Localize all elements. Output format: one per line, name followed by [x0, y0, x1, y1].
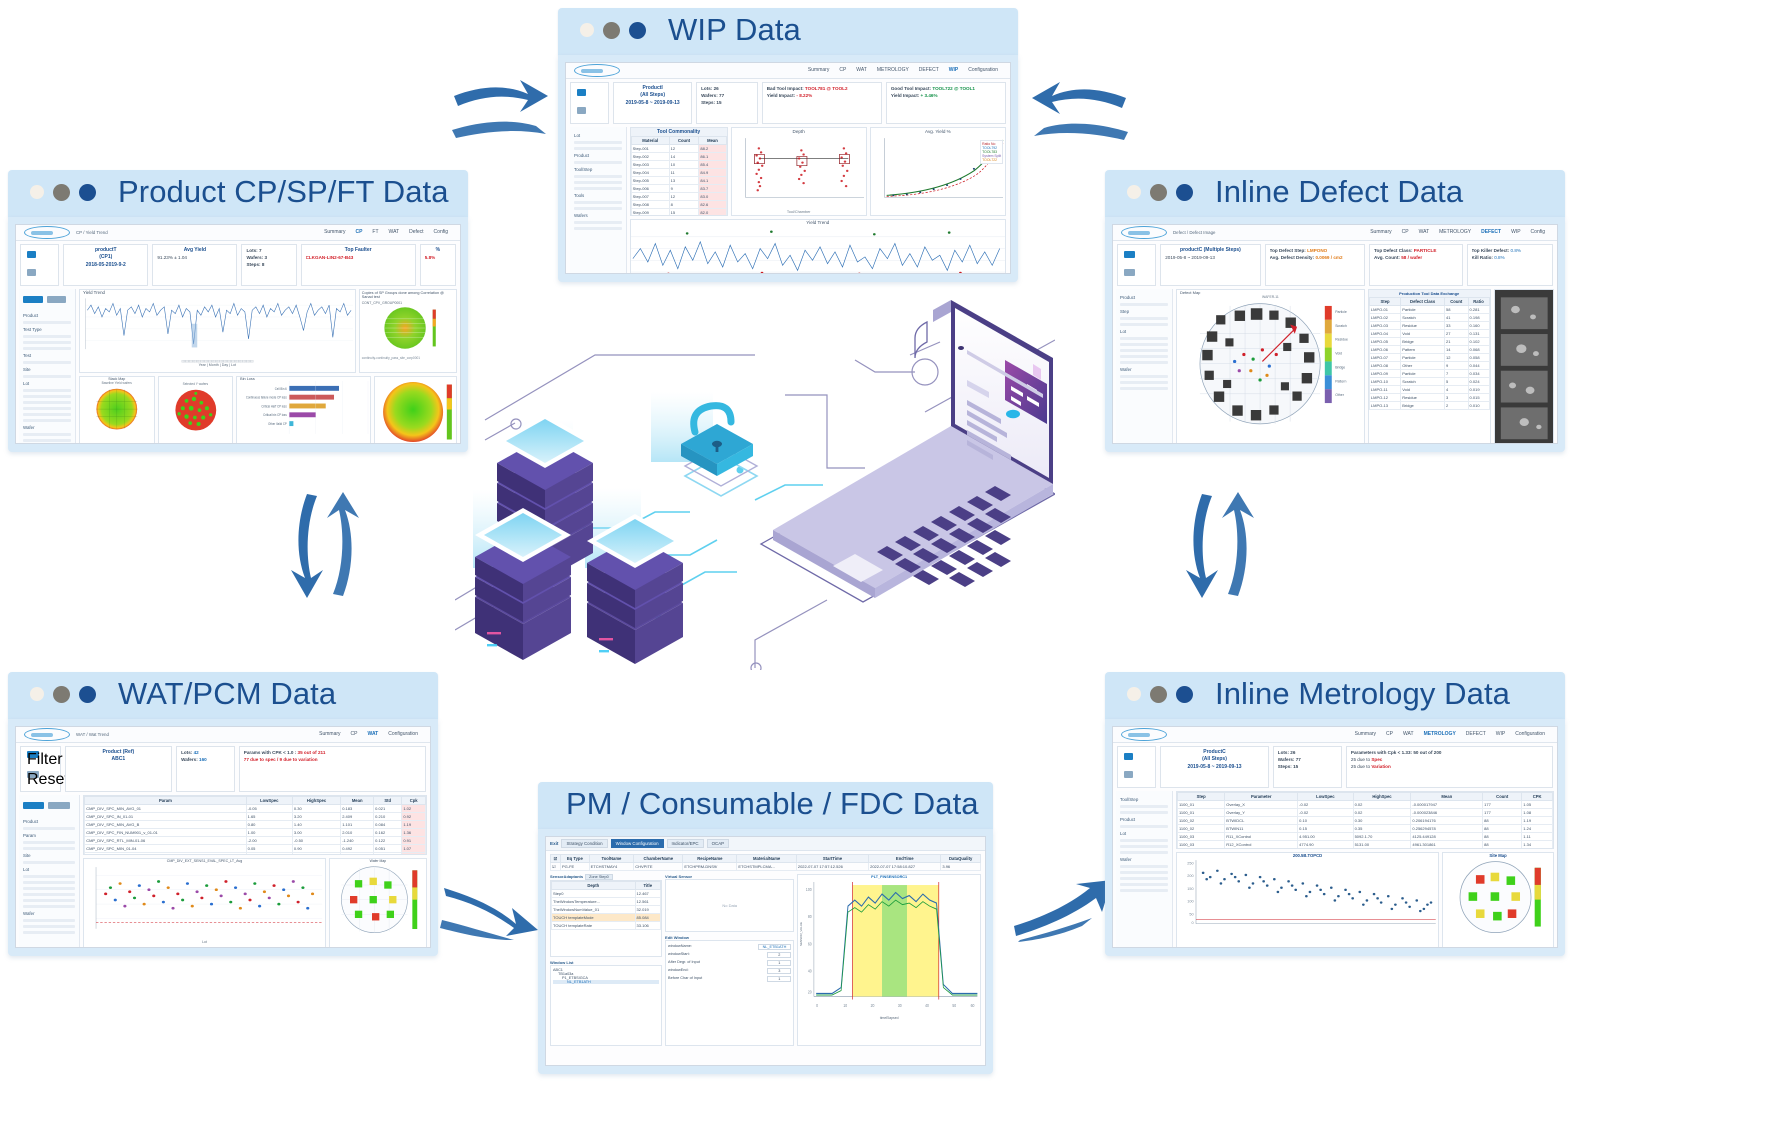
- window-item-selected[interactable]: NL_ETB1ATH: [553, 980, 659, 984]
- sidebar-label-site: Site: [23, 367, 71, 372]
- boxplot-chart[interactable]: Depth: [731, 127, 867, 216]
- table-row: CMP_DIV_SPC_MIN_AVG_01-0.050.300.1830.02…: [85, 804, 426, 812]
- th-highspec: HighSpec: [292, 796, 340, 804]
- lower-content: SensorAdaptants Zone Step0 DepthTitle St…: [546, 874, 985, 1050]
- kpi-cpk-value: 50 out of 200: [1413, 750, 1441, 755]
- tool-commonality-table[interactable]: Tool Commonality Material Count Mean Ste…: [630, 127, 728, 216]
- heatmap-wafer-panel[interactable]: [374, 376, 457, 444]
- filter-toolbar[interactable]: [570, 82, 609, 124]
- panel-title-pm-fdc: PM / Consumable / FDC Data: [566, 788, 979, 821]
- svg-text:Scratch: Scratch: [1335, 323, 1347, 327]
- clear-button[interactable]: [48, 802, 69, 809]
- reset-button[interactable]: [27, 269, 36, 276]
- laptop-illustration: [761, 300, 1055, 602]
- sensor-list[interactable]: DepthTitle Step012.467 TheWindowTemperat…: [550, 880, 662, 957]
- diagram-canvas: WIP Data Summary CP WAT METROLOGY DEFECT…: [0, 0, 1769, 1125]
- kpi-lots-value: 26: [714, 86, 719, 91]
- kpi-product-value: ABC1: [70, 756, 167, 764]
- svg-text:10: 10: [844, 1002, 848, 1008]
- kpi-killratio-value: 0.8%: [1494, 255, 1504, 260]
- chart-legend: Ratio No TOOL792 TOOL783 System Split TO…: [980, 140, 1003, 164]
- virtual-sensor-panel[interactable]: No Data: [665, 879, 794, 933]
- tab-bar[interactable]: Exit Strategy Condition Window Configura…: [546, 837, 985, 851]
- table-row: LMPO-08Other90.044: [1369, 361, 1489, 369]
- field-value[interactable]: NL_ETB1ATH: [758, 944, 792, 950]
- field-value[interactable]: 3: [767, 968, 791, 974]
- wat-grid[interactable]: Param LowSpec HighSpec Mean Std Cpk CMP_…: [84, 796, 426, 856]
- dot-light-icon: [30, 687, 44, 701]
- defect-map-svg: ParticleScratch ResidueVoid BridgePatter…: [1177, 299, 1364, 426]
- kpi-row: ProductI (All Steps) 2019-05-8 ~ 2019-09…: [566, 79, 1010, 127]
- kpi-wafers-value: 3: [264, 255, 267, 260]
- panel-wat-pcm[interactable]: WAT/PCM Data WAT / Wat Trend Summary CP …: [8, 672, 438, 956]
- panel-body-wat-pcm: WAT / Wat Trend Summary CP WAT Configura…: [8, 719, 438, 956]
- sidebar-label-wafer: Wafer: [1120, 367, 1168, 372]
- metrology-scatter-chart[interactable]: 200.5B.TOPCD 250 200 150 100: [1176, 852, 1439, 948]
- kpi-bad-yield-value: - 8.22%: [796, 93, 812, 98]
- kpi-good-tool-label: Good Tool Impact:: [891, 86, 931, 91]
- dashboard-topbar: WAT / Wat Trend Summary CP WAT Configura…: [16, 727, 430, 743]
- dashboard-sidebar[interactable]: Tool/Step Product Lot Wafer: [1116, 791, 1173, 948]
- field-value[interactable]: 2: [767, 952, 791, 958]
- nav-wat[interactable]: WAT: [368, 731, 379, 737]
- sidebar-label-lot: Lot: [23, 381, 71, 386]
- apply-button[interactable]: [23, 296, 43, 303]
- cumulative-chart[interactable]: Avg. Yield %: [870, 127, 1006, 216]
- kpi-product-value: productT: [68, 247, 143, 255]
- kpi-product: ProductC (All Steps) 2019-05-8 ~ 2019-09…: [1160, 746, 1269, 788]
- nav-wat[interactable]: WAT: [1403, 731, 1414, 737]
- kpi-avg-yield-label: Avg Yield: [157, 247, 232, 255]
- nav-config[interactable]: Config: [1531, 229, 1545, 235]
- window-dots: [30, 686, 96, 703]
- cell-endtime: 2022-07-07 17:58:10.827: [869, 862, 941, 870]
- dot-grey-icon: [1150, 184, 1167, 201]
- arrow-defect-to-metrology: [1180, 490, 1270, 605]
- kpi-product-range: 2019-05-8 ~ 2019-09-13: [618, 100, 687, 108]
- th-recipename: RecipeName: [683, 854, 737, 862]
- kpi-good-tool-value: TOOL722 @ TOOL1: [932, 86, 975, 91]
- dashboard-main: Defect Map WAFER-11: [1173, 289, 1554, 444]
- kpi-killer-label: Top Killer Defect:: [1472, 248, 1510, 253]
- kpi-product-value: (All Steps): [1165, 756, 1264, 764]
- kpi-top-faulter-label: Top Faulter: [306, 247, 411, 255]
- kpi-bad-tool-label: Bad Tool Impact:: [767, 86, 804, 91]
- dashboard-screenshot-wat-pcm[interactable]: WAT / Wat Trend Summary CP WAT Configura…: [15, 726, 431, 948]
- sensor-grid[interactable]: DepthTitle Step012.467 TheWindowTemperat…: [551, 881, 661, 930]
- dashboard-sidebar[interactable]: Product Param Site Lot Wafer: [19, 795, 80, 948]
- cell-chambername: CHVPITE: [634, 862, 683, 870]
- kpi-product-label: Product (Ref): [70, 749, 167, 757]
- sensor-column: SensorAdaptants Zone Step0 DepthTitle St…: [550, 874, 662, 1046]
- svg-text:Particle: Particle: [1335, 309, 1347, 313]
- edit-column: Virtual Sensor No Data Edit Window windo…: [665, 874, 794, 1046]
- nav-metrology[interactable]: METROLOGY: [877, 67, 909, 73]
- table-row: Step-0071283.0: [631, 192, 726, 200]
- sidebar-label-product: Product: [23, 313, 71, 318]
- table-row: LMPO-02Scratch410.198: [1369, 313, 1489, 321]
- defect-image-strip[interactable]: [1494, 289, 1554, 444]
- panel-title-inline-defect: Inline Defect Data: [1215, 176, 1463, 209]
- clear-button[interactable]: [47, 296, 67, 303]
- cell-materialname: ETCHSTMPLCMA...: [737, 862, 796, 870]
- table-row: Step-0021486.1: [631, 152, 726, 160]
- nav-cp[interactable]: CP: [1402, 229, 1409, 235]
- kpi-top-faulter: Top Faulter CLKGAN-LIN2-67-B43: [301, 244, 416, 286]
- nav-wip[interactable]: WIP: [949, 67, 958, 73]
- context-grid[interactable]: ☑ Eq Type ToolName ChamberName RecipeNam…: [550, 854, 981, 871]
- th-lowspec: LowSpec: [246, 796, 292, 804]
- defect-map-panel[interactable]: Defect Map WAFER-11: [1176, 289, 1365, 444]
- dashboard-nav[interactable]: Summary CP WAT METROLOGY DEFECT WIP Conf…: [808, 67, 1006, 73]
- filter-toolbar[interactable]: [1117, 746, 1156, 788]
- dashboard-screenshot-inline-defect[interactable]: Defect / Defect Image Summary CP WAT MET…: [1112, 224, 1558, 444]
- tab-window-configuration[interactable]: Window Configuration: [611, 839, 664, 848]
- reset-button[interactable]: [1124, 771, 1133, 778]
- dot-grey-icon: [53, 184, 70, 201]
- dashboard-nav[interactable]: Summary CP WAT METROLOGY DEFECT WIP Conf…: [1355, 731, 1553, 737]
- dot-blue-icon: [1176, 686, 1193, 703]
- kpi-steps-label: Steps:: [1278, 764, 1292, 769]
- field-label: windowEnd:: [668, 968, 688, 974]
- panel-wip-data[interactable]: WIP Data Summary CP WAT METROLOGY DEFECT…: [558, 8, 1018, 282]
- kpi-steps-value: 15: [716, 100, 721, 105]
- wafer-map-caption: continuity-continuity_pass_site_corp0001: [360, 356, 456, 360]
- nav-cp[interactable]: CP: [839, 67, 846, 73]
- tab-exit[interactable]: Exit: [550, 841, 558, 846]
- field-label: windowName:: [668, 944, 692, 950]
- svg-text:60: 60: [808, 940, 812, 946]
- field-value[interactable]: 1: [767, 960, 791, 966]
- nav-summary[interactable]: Summary: [1370, 229, 1391, 235]
- panel-inline-defect[interactable]: Inline Defect Data Defect / Defect Image…: [1105, 170, 1565, 452]
- list-item: TheWindowNumValue_0132.019: [552, 905, 661, 913]
- table-row: 1100_02BTWIN110.150.350.256294578881.24: [1177, 824, 1552, 832]
- kpi-wafers-label: Wafers:: [246, 255, 263, 260]
- bin-loss-chart[interactable]: Bin Loss Cell Bin 6 Continuous failure m…: [236, 376, 371, 444]
- filter-button[interactable]: [27, 251, 36, 258]
- svg-text:20: 20: [871, 1002, 875, 1008]
- svg-text:250: 250: [1187, 861, 1193, 865]
- svg-text:20: 20: [808, 989, 812, 995]
- sidebar-label-wafer: Wafer: [1120, 857, 1168, 862]
- th-material: Material: [631, 136, 669, 144]
- wat-param-table[interactable]: Param LowSpec HighSpec Mean Std Cpk CMP_…: [83, 795, 427, 856]
- field-label: windowStart:: [668, 952, 690, 958]
- kpi-product-sub: (All Steps): [618, 92, 687, 100]
- table-row: 1100_03R12_XControl4774.905131.004961.30…: [1177, 840, 1552, 848]
- metrology-param-table[interactable]: Step Parameter LowSpec HighSpec Mean Cou…: [1176, 791, 1554, 849]
- svg-text:Critical bin CP loss: Critical bin CP loss: [263, 413, 287, 417]
- kpi-counts: Lots: 42 Wafers: 160: [176, 746, 235, 792]
- table-row: CMP_DIV_SPC_FIN_NUM901_v_01-011.003.002.…: [85, 828, 426, 836]
- panel-body-inline-metrology: Summary CP WAT METROLOGY DEFECT WIP Conf…: [1105, 719, 1565, 956]
- dashboard-sidebar[interactable]: Product Test Type Test Site Lot Wafer: [19, 289, 76, 444]
- tab-indicator-epc[interactable]: Indicator/EPC: [667, 839, 704, 848]
- dashboard-nav[interactable]: Summary CP WAT METROLOGY DEFECT WIP Conf…: [1370, 229, 1553, 235]
- table-row: Step-0091582.0: [631, 208, 726, 216]
- nav-metrology[interactable]: METROLOGY: [1439, 229, 1471, 235]
- nav-cp[interactable]: CP: [355, 229, 362, 235]
- nav-ft[interactable]: FT: [372, 229, 378, 235]
- cell-dataquality: 3.96: [941, 862, 981, 870]
- table-row: CMP_DIV_SPC_R_V_01_0112.026.018.3301.410…: [85, 852, 426, 855]
- edit-window-form[interactable]: windowName: NL_ETB1ATH windowStart: 2 Af…: [665, 940, 794, 1045]
- kpi-cpk-label: Params with CPK < 1.0 :: [244, 750, 296, 755]
- kpi-count-value: 58 / wafer: [1401, 255, 1422, 260]
- nav-config[interactable]: Config: [434, 229, 448, 235]
- filter-button[interactable]: Filter: [27, 751, 39, 758]
- kpi-lots-label: Lots:: [701, 86, 712, 91]
- table-row: LMPO-11Void40.019: [1369, 385, 1489, 393]
- reset-button[interactable]: Reset: [27, 771, 39, 778]
- nav-wip[interactable]: WIP: [1511, 229, 1520, 235]
- apply-button[interactable]: [23, 802, 44, 809]
- dot-light-icon: [580, 23, 594, 37]
- nav-metrology[interactable]: METROLOGY: [1424, 731, 1456, 737]
- sidebar-label-test: Test: [23, 353, 71, 358]
- form-row: windowEnd: 3: [668, 967, 791, 975]
- kpi-cpk-label: Parameters with Cpk < 1.33:: [1351, 750, 1412, 755]
- table-row: 1100_01Overlay_X-0.020.02-0.000017947177…: [1177, 800, 1552, 808]
- nav-wip[interactable]: WIP: [1496, 731, 1505, 737]
- commonality-grid[interactable]: Material Count Mean Step-0011288.2 Step-…: [631, 136, 727, 216]
- illustration-svg: [455, 300, 1055, 670]
- tab-ocap[interactable]: OCAP: [707, 839, 729, 848]
- sensor-panel-title: SensorAdaptants: [550, 874, 583, 879]
- dashboard-topbar: Summary CP WAT METROLOGY DEFECT WIP Conf…: [1113, 727, 1557, 743]
- kpi-class-label: Top Defect Class:: [1374, 248, 1412, 253]
- breadcrumb: Defect / Defect Image: [1173, 230, 1215, 235]
- kpi-bad-yield-label: Yield Impact:: [767, 93, 795, 98]
- defect-grid[interactable]: Step Defect Class Count Ratio LMPO-01Par…: [1369, 297, 1490, 410]
- table-row: LMPO-13Bridge20.010: [1369, 401, 1489, 409]
- dashboard-main: Yield Trend ▯: [76, 289, 457, 444]
- defect-button[interactable]: [1124, 251, 1135, 258]
- kpi-wafers-value: 160: [199, 757, 207, 762]
- sidebar-label-product: Product: [23, 819, 75, 824]
- table-row: CMP_DIV_SPC_RTL_MIN-01-06-2.00-0.50-1.24…: [85, 836, 426, 844]
- svg-text:Cell Bin 6: Cell Bin 6: [275, 386, 287, 390]
- panel-title-wip: WIP Data: [668, 14, 801, 47]
- dashboard-sidebar[interactable]: Product Step Lot Wafer: [1116, 289, 1173, 444]
- dashboard-screenshot-product-cp[interactable]: CP / Yield Trend Summary CP FT WAT Defec…: [15, 224, 461, 444]
- dashboard-nav[interactable]: Summary CP WAT Configuration: [319, 731, 426, 737]
- filter-button[interactable]: [577, 89, 586, 96]
- sidebar-label-site: Site: [23, 853, 75, 858]
- defect-table-title: Production Tool Data Exchange: [1369, 290, 1490, 297]
- cell-toolname: ETCHSTMAY4: [589, 862, 634, 870]
- kpi-product: productT (CP1) 2018-05-2019-9-2: [63, 244, 148, 286]
- sidebar-label-toolstep: Tool/Step: [1120, 797, 1168, 802]
- svg-text:Other Valid CP: Other Valid CP: [268, 422, 287, 426]
- server-stack-right: [587, 514, 683, 664]
- nav-wat[interactable]: WAT: [856, 67, 867, 73]
- kpi-killer-value: 0.8%: [1510, 248, 1520, 253]
- window-dots: [1127, 686, 1193, 703]
- panel-inline-metrology[interactable]: Inline Metrology Data Summary CP WAT MET…: [1105, 672, 1565, 956]
- kpi-counts: Lots: 26 Wafers: 77 Steps: 15: [1273, 746, 1342, 788]
- kpi-product-value: ProductI: [618, 85, 687, 93]
- sidebar-label-param: Param: [23, 833, 75, 838]
- dashboard-content: Tool/Step Product Lot Wafer: [1113, 791, 1557, 948]
- dot-blue-icon: [79, 686, 96, 703]
- field-label: Before Char of Input: [668, 976, 702, 982]
- panel-title-product-cp: Product CP/SP/FT Data: [118, 176, 449, 209]
- th-std: Std: [374, 796, 402, 804]
- arrow-wat-to-pm: [440, 880, 540, 947]
- dashboard-screenshot-inline-metrology[interactable]: Summary CP WAT METROLOGY DEFECT WIP Conf…: [1112, 726, 1558, 948]
- nav-summary[interactable]: Summary: [808, 67, 829, 73]
- search-button[interactable]: [1124, 269, 1135, 276]
- sidebar-label-tools: Tools: [574, 193, 622, 198]
- stack-map-baseline[interactable]: Stack Map Baseline Yield wafers: [79, 376, 155, 444]
- table-row: Step-0031085.4: [631, 160, 726, 168]
- dashboard-screenshot-pm-fdc[interactable]: Exit Strategy Condition Window Configura…: [545, 836, 986, 1066]
- metrology-grid[interactable]: Step Parameter LowSpec HighSpec Mean Cou…: [1177, 792, 1553, 849]
- th-toolname: ToolName: [589, 854, 634, 862]
- nav-wat[interactable]: WAT: [1419, 229, 1430, 235]
- panel-body-pm-fdc: Exit Strategy Condition Window Configura…: [538, 829, 993, 1074]
- panel-product-cp-sp-ft[interactable]: Product CP/SP/FT Data CP / Yield Trend S…: [8, 170, 468, 452]
- field-value[interactable]: 1: [767, 976, 791, 982]
- filter-toolbar[interactable]: Filter Reset: [20, 746, 61, 792]
- xaxis-label: Lot: [84, 940, 325, 944]
- boxplot-svg: [732, 134, 866, 206]
- fdc-trace-chart[interactable]: PLT_FINSENSORC1 1008060 4020: [797, 874, 981, 1046]
- table-row: CMP_DIV_SPC_MIN_01-040.050.900.4920.0511…: [85, 844, 426, 852]
- dot-grey-icon: [603, 22, 620, 39]
- fdc-yaxis-label: SENSOR_VALUE: [799, 922, 803, 946]
- kpi-lots-label: Lots:: [1278, 750, 1289, 755]
- th-cpk: Cpk: [402, 796, 426, 804]
- panel-header-inline-metrology: Inline Metrology Data: [1105, 672, 1565, 719]
- nav-summary[interactable]: Summary: [1355, 731, 1376, 737]
- cell-recipename: ETCHPRM-DNS9/: [683, 862, 737, 870]
- app-logo-icon: [574, 64, 620, 77]
- kpi-product-label: ProductC: [1165, 749, 1264, 757]
- kpi-row: ProductC (All Steps) 2019-05-8 ~ 2019-09…: [1113, 743, 1557, 791]
- dot-light-icon: [1127, 185, 1141, 199]
- th-mean: Mean: [1411, 792, 1483, 800]
- kpi-killratio-label: Kill Ratio:: [1472, 255, 1493, 260]
- dot-light-icon: [30, 185, 44, 199]
- panel-title-inline-metrology: Inline Metrology Data: [1215, 678, 1510, 711]
- svg-text:60: 60: [971, 1002, 975, 1008]
- nav-defect[interactable]: Defect: [409, 229, 423, 235]
- table-row: 1100_02BTWIDCL0.100.300.206194176881.19: [1177, 816, 1552, 824]
- dashboard-content: Product Test Type Test Site Lot Wafer: [16, 289, 460, 444]
- nav-configuration[interactable]: Configuration: [1515, 731, 1545, 737]
- nav-summary[interactable]: Summary: [324, 229, 345, 235]
- nav-defect[interactable]: DEFECT: [1481, 229, 1501, 235]
- window-dots: [1127, 184, 1193, 201]
- yield-trend-chart[interactable]: Yield Trend: [630, 219, 1006, 274]
- nav-summary[interactable]: Summary: [319, 731, 340, 737]
- reset-button[interactable]: [577, 107, 586, 114]
- baseline-wafer-svg: [80, 385, 154, 433]
- row-checkbox[interactable]: ☑: [551, 862, 561, 870]
- context-table-wrap[interactable]: ☑ Eq Type ToolName ChamberName RecipeNam…: [546, 851, 985, 874]
- xaxis-label: Year | Month | Day | Lot: [80, 363, 355, 367]
- kpi-spec-value: Spec: [1371, 757, 1382, 762]
- table-row: Step-006983.7: [631, 184, 726, 192]
- filter-toolbar[interactable]: [20, 244, 59, 286]
- svg-text:Critical Half' CP loss: Critical Half' CP loss: [262, 404, 288, 408]
- cell-eqtype: PG-FE: [561, 862, 590, 870]
- kpi-wafers-label: Wafers:: [701, 93, 718, 98]
- kpi-wafers-value: 77: [1296, 757, 1301, 762]
- dashboard-screenshot-wip[interactable]: Summary CP WAT METROLOGY DEFECT WIP Conf…: [565, 62, 1011, 274]
- svg-text:50: 50: [953, 1002, 957, 1008]
- svg-text:Continuous failure mode CP los: Continuous failure mode CP loss: [246, 395, 287, 399]
- kpi-count-label: Avg. Count:: [1374, 255, 1400, 260]
- kpi-percent-label: %: [425, 247, 451, 255]
- dashboard-nav[interactable]: Summary CP FT WAT Defect Config: [324, 229, 456, 235]
- filter-toolbar[interactable]: [1117, 244, 1156, 286]
- wat-wafer-map[interactable]: Wafer Map: [329, 858, 427, 947]
- window-list[interactable]: ABC1 TB1a03a P1_ETBSIGCA NL_ETB1ATH: [550, 965, 662, 1046]
- dot-blue-icon: [79, 184, 96, 201]
- dashboard-sidebar[interactable]: Lot Product Tool/Step Tools Wafers: [570, 127, 627, 274]
- panel-title-wat-pcm: WAT/PCM Data: [118, 678, 336, 711]
- svg-text:80: 80: [808, 913, 812, 919]
- table-row: Step-0041184.9: [631, 168, 726, 176]
- site-map-panel[interactable]: Site Map: [1442, 852, 1554, 948]
- kpi-top-killer-defect: Top Killer Defect: 0.8% Kill Ratio: 0.8%: [1467, 244, 1554, 286]
- filter-button[interactable]: [1124, 753, 1133, 760]
- nav-configuration[interactable]: Configuration: [968, 67, 998, 73]
- panel-body-inline-defect: Defect / Defect Image Summary CP WAT MET…: [1105, 217, 1565, 452]
- nav-defect[interactable]: DEFECT: [919, 67, 939, 73]
- kpi-top-faulter-value: CLKGAN-LIN2-67-B43: [306, 254, 411, 261]
- nav-cp[interactable]: CP: [1386, 731, 1393, 737]
- table-row: CMP_DIV_SPC_IN_01-011.653.202.4090.2100.…: [85, 812, 426, 820]
- svg-text:100: 100: [806, 886, 812, 892]
- window-dots: [580, 22, 646, 39]
- kpi-cpk-detail: 77 due to spec / 9 due to variation: [244, 756, 421, 763]
- app-logo-icon: [24, 226, 70, 239]
- th-starttime: StartTime: [796, 854, 868, 862]
- table-row: 1100_03R11_XControl4.951.005092.1.704125…: [1177, 832, 1552, 840]
- nav-configuration[interactable]: Configuration: [388, 731, 418, 737]
- dot-light-icon: [1127, 687, 1141, 701]
- nav-defect[interactable]: DEFECT: [1466, 731, 1486, 737]
- table-row: Step-008882.6: [631, 200, 726, 208]
- th-chambername: ChamberName: [634, 854, 683, 862]
- kpi-lots-label: Lots:: [181, 750, 192, 755]
- panel-header-pm-fdc: PM / Consumable / FDC Data: [538, 782, 993, 829]
- sidebar-label-toolstep: Tool/Step: [574, 167, 622, 172]
- nav-cp[interactable]: CP: [351, 731, 358, 737]
- th-eqtype: Eq Type: [561, 854, 590, 862]
- wat-scatter-chart[interactable]: CMP_DIV_EXT_SENS1_EVAL_SPEC_LT_Avg: [83, 858, 326, 947]
- panel-pm-consumable-fdc[interactable]: PM / Consumable / FDC Data Exit Strategy…: [538, 782, 993, 1074]
- arrow-wip-to-defect: [1030, 80, 1130, 147]
- kpi-spec-label: 25 due to: [1351, 757, 1370, 762]
- stack-map-selected[interactable]: Selected Y wafers: [158, 376, 234, 444]
- dashboard-main: Tool Commonality Material Count Mean Ste…: [627, 127, 1006, 274]
- legend-item: TOOL722: [982, 158, 1001, 162]
- th-cpk: CPK: [1522, 792, 1553, 800]
- tab-strategy-condition[interactable]: Strategy Condition: [561, 839, 607, 848]
- yield-trend-chart[interactable]: Yield Trend ▯: [79, 289, 356, 373]
- defect-table-panel[interactable]: Production Tool Data Exchange Step Defec…: [1368, 289, 1491, 444]
- nav-wat[interactable]: WAT: [389, 229, 400, 235]
- table-row: LMPO-01Particle580.281: [1369, 305, 1489, 313]
- arrow-cp-to-wip: [450, 78, 550, 145]
- wafer-map-panel[interactable]: Copies of SP Groups done among Correlati…: [359, 289, 457, 373]
